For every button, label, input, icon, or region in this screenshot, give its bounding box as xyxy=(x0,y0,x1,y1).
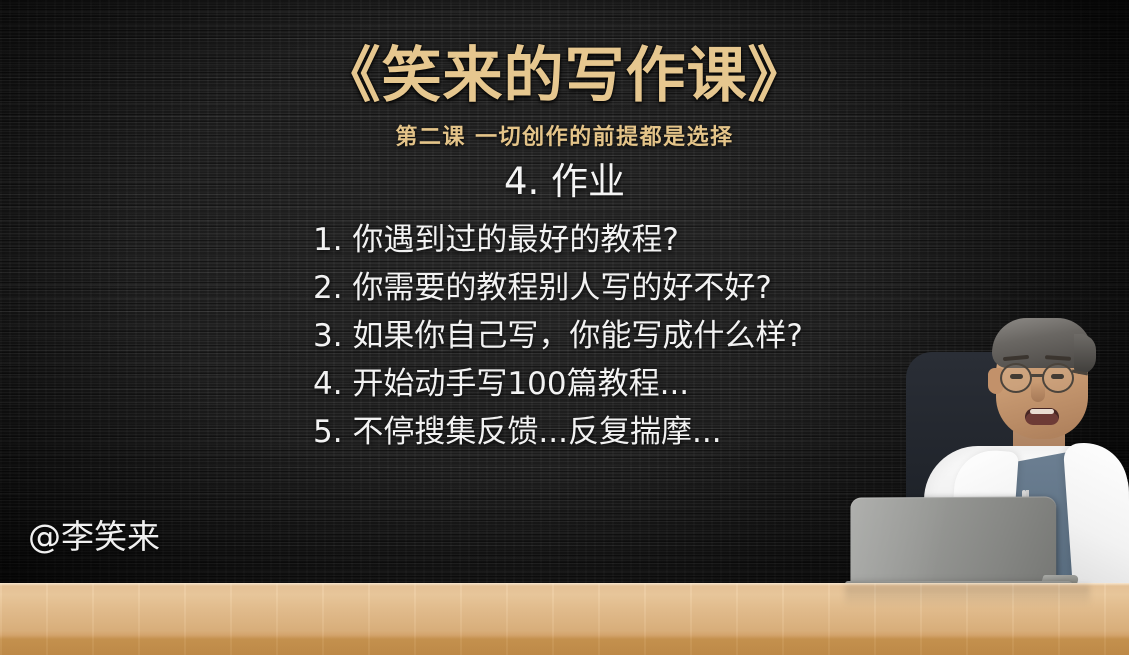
nose xyxy=(1031,382,1045,402)
list-item: 1. 你遇到过的最好的教程? xyxy=(313,216,953,264)
list-item: 5. 不停搜集反馈...反复揣摩... xyxy=(313,408,953,456)
list-item: 2. 你需要的教程别人写的好不好? xyxy=(313,264,953,312)
eyeglasses-left-lens xyxy=(1000,363,1032,393)
homework-list: 1. 你遇到过的最好的教程? 2. 你需要的教程别人写的好不好? 3. 如果你自… xyxy=(313,216,953,456)
mouth-open xyxy=(1025,408,1059,425)
list-item: 3. 如果你自己写，你能写成什么样? xyxy=(313,312,953,360)
desk-reflection xyxy=(845,585,1090,607)
laptop-lid xyxy=(850,496,1056,589)
video-frame: 《笑来的写作课》 第二课 一切创作的前提都是选择 4. 作业 1. 你遇到过的最… xyxy=(0,0,1129,655)
author-watermark: @李笑来 xyxy=(28,516,160,558)
list-item: 4. 开始动手写100篇教程... xyxy=(313,360,953,408)
course-title: 《笑来的写作课》 xyxy=(0,42,1129,110)
course-subtitle: 第二课 一切创作的前提都是选择 xyxy=(0,124,1129,152)
eyeglasses-right-lens xyxy=(1042,363,1074,393)
eyeglasses-bridge xyxy=(1031,374,1043,377)
section-heading: 4. 作业 xyxy=(0,158,1129,206)
laptop xyxy=(845,497,1077,595)
